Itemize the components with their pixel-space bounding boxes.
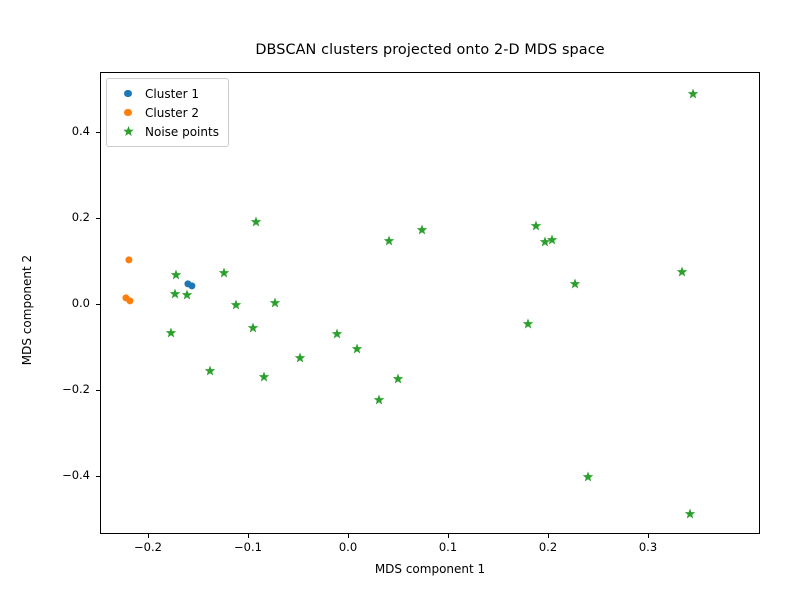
legend-item-noise: Noise points <box>114 122 219 141</box>
legend-item-cluster-1: Cluster 1 <box>114 84 219 103</box>
data-point <box>259 372 270 383</box>
x-tick-mark <box>248 534 249 538</box>
legend-item-cluster-2: Cluster 2 <box>114 103 219 122</box>
legend-label: Noise points <box>142 125 219 139</box>
data-point <box>219 268 230 279</box>
y-tick-mark <box>96 218 100 219</box>
data-point <box>384 236 395 247</box>
legend-label: Cluster 2 <box>142 106 199 120</box>
data-point <box>171 269 182 280</box>
data-point <box>126 298 133 305</box>
data-point <box>523 318 534 329</box>
data-point <box>295 353 306 364</box>
data-point <box>231 300 242 311</box>
y-tick-mark <box>96 390 100 391</box>
data-point <box>374 395 385 406</box>
x-tick-mark <box>548 534 549 538</box>
data-point <box>531 221 542 232</box>
data-point <box>688 89 699 100</box>
x-tick-label: 0.0 <box>339 540 357 554</box>
data-point <box>270 297 281 308</box>
data-point <box>352 344 363 355</box>
x-tick-label: 0.2 <box>539 540 557 554</box>
y-tick-mark <box>96 304 100 305</box>
x-tick-mark <box>348 534 349 538</box>
data-point <box>182 290 193 301</box>
data-point <box>248 322 259 333</box>
y-tick-mark <box>96 476 100 477</box>
data-point <box>251 216 262 227</box>
legend: Cluster 1Cluster 2Noise points <box>106 78 229 147</box>
data-point <box>188 282 195 289</box>
circle-marker-icon <box>114 109 142 116</box>
circle-marker-icon <box>114 90 142 97</box>
y-tick-mark <box>96 132 100 133</box>
scatter-plot-figure: DBSCAN clusters projected onto 2-D MDS s… <box>0 0 800 600</box>
x-tick-label: −0.1 <box>234 540 262 554</box>
x-tick-mark <box>648 534 649 538</box>
legend-label: Cluster 1 <box>142 87 199 101</box>
y-axis-label: MDS component 2 <box>20 230 34 390</box>
x-tick-label: −0.2 <box>134 540 162 554</box>
data-point <box>417 225 428 236</box>
x-tick-label: 0.3 <box>639 540 657 554</box>
x-tick-mark <box>448 534 449 538</box>
x-tick-mark <box>148 534 149 538</box>
data-point <box>393 373 404 384</box>
x-axis-label: MDS component 1 <box>100 562 760 576</box>
data-point <box>583 472 594 483</box>
data-point <box>677 266 688 277</box>
data-point <box>166 328 177 339</box>
x-tick-label: 0.1 <box>439 540 457 554</box>
data-point <box>170 288 181 299</box>
data-point <box>547 234 558 245</box>
star-marker-icon <box>114 126 142 137</box>
data-point <box>332 328 343 339</box>
page-title: DBSCAN clusters projected onto 2-D MDS s… <box>0 42 800 58</box>
data-point <box>205 365 216 376</box>
data-point <box>685 508 696 519</box>
data-point <box>570 279 581 290</box>
data-point <box>125 256 132 263</box>
